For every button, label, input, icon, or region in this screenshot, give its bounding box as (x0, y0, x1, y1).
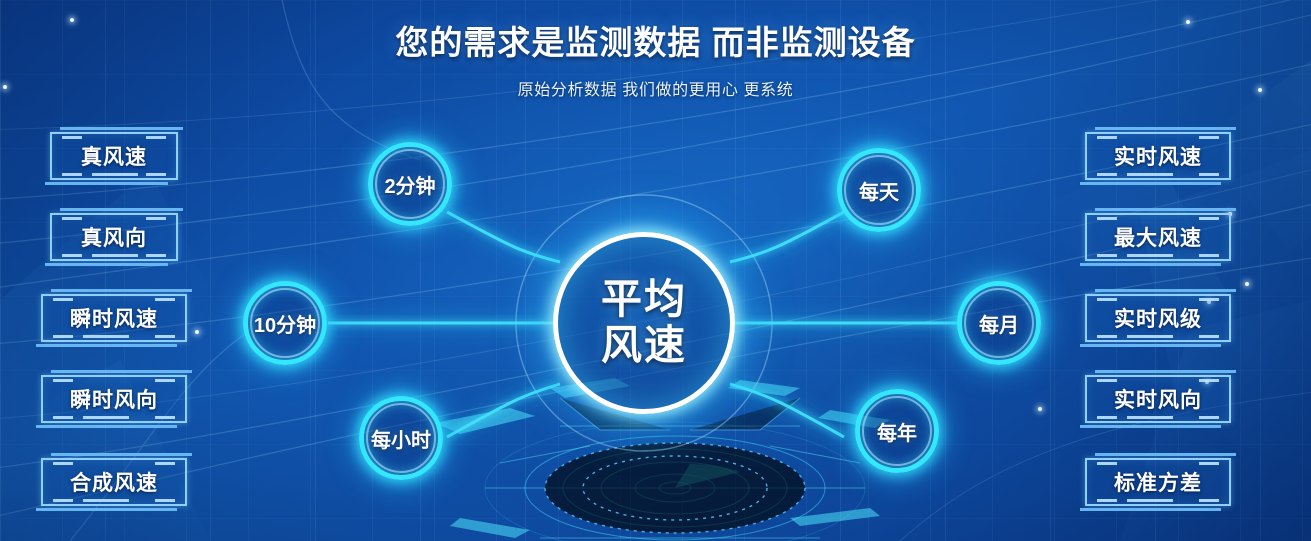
chip-label: 合成风速 (70, 467, 158, 497)
center-node-label: 平均 风速 (601, 277, 687, 369)
node-hourly[interactable]: 每小时 (359, 396, 443, 480)
chip-label: 真风向 (81, 222, 147, 252)
chip-instant-wind-speed[interactable]: 瞬时风速 (41, 294, 187, 342)
chip-true-wind-direction[interactable]: 真风向 (50, 213, 178, 261)
node-yearly[interactable]: 每年 (855, 389, 939, 473)
chip-label: 标准方差 (1114, 467, 1202, 497)
node-label: 2分钟 (384, 170, 435, 199)
chip-label: 瞬时风速 (70, 303, 158, 333)
node-label: 每年 (877, 417, 917, 446)
node-label: 每天 (859, 176, 899, 205)
chip-label: 瞬时风向 (70, 384, 158, 414)
chip-realtime-wind-direction[interactable]: 实时风向 (1085, 375, 1231, 423)
center-node-average-wind-speed[interactable]: 平均 风速 (553, 232, 735, 414)
chip-label: 实时风级 (1114, 303, 1202, 333)
node-label: 每小时 (371, 424, 431, 453)
chip-realtime-wind-speed[interactable]: 实时风速 (1085, 132, 1231, 180)
chip-realtime-wind-scale[interactable]: 实时风级 (1085, 294, 1231, 342)
chip-label: 实时风速 (1114, 141, 1202, 171)
chip-composite-wind-speed[interactable]: 合成风速 (41, 458, 187, 506)
chip-standard-deviation[interactable]: 标准方差 (1085, 458, 1231, 506)
node-10-minutes[interactable]: 10分钟 (243, 281, 327, 365)
node-daily[interactable]: 每天 (837, 148, 921, 232)
node-2-minutes[interactable]: 2分钟 (368, 142, 452, 226)
chip-label: 最大风速 (1114, 222, 1202, 252)
chip-label: 实时风向 (1114, 384, 1202, 414)
node-label: 10分钟 (254, 309, 316, 338)
chip-label: 真风速 (81, 141, 147, 171)
node-monthly[interactable]: 每月 (957, 281, 1041, 365)
chip-instant-wind-direction[interactable]: 瞬时风向 (41, 375, 187, 423)
chip-max-wind-speed[interactable]: 最大风速 (1085, 213, 1231, 261)
infographic-banner: 您的需求是监测数据 而非监测设备 原始分析数据 我们做的更用心 更系统 (0, 0, 1311, 541)
center-node-label-line2: 风速 (601, 323, 687, 369)
chip-true-wind-speed[interactable]: 真风速 (50, 132, 178, 180)
center-node-label-line1: 平均 (601, 277, 687, 323)
node-label: 每月 (979, 309, 1019, 338)
